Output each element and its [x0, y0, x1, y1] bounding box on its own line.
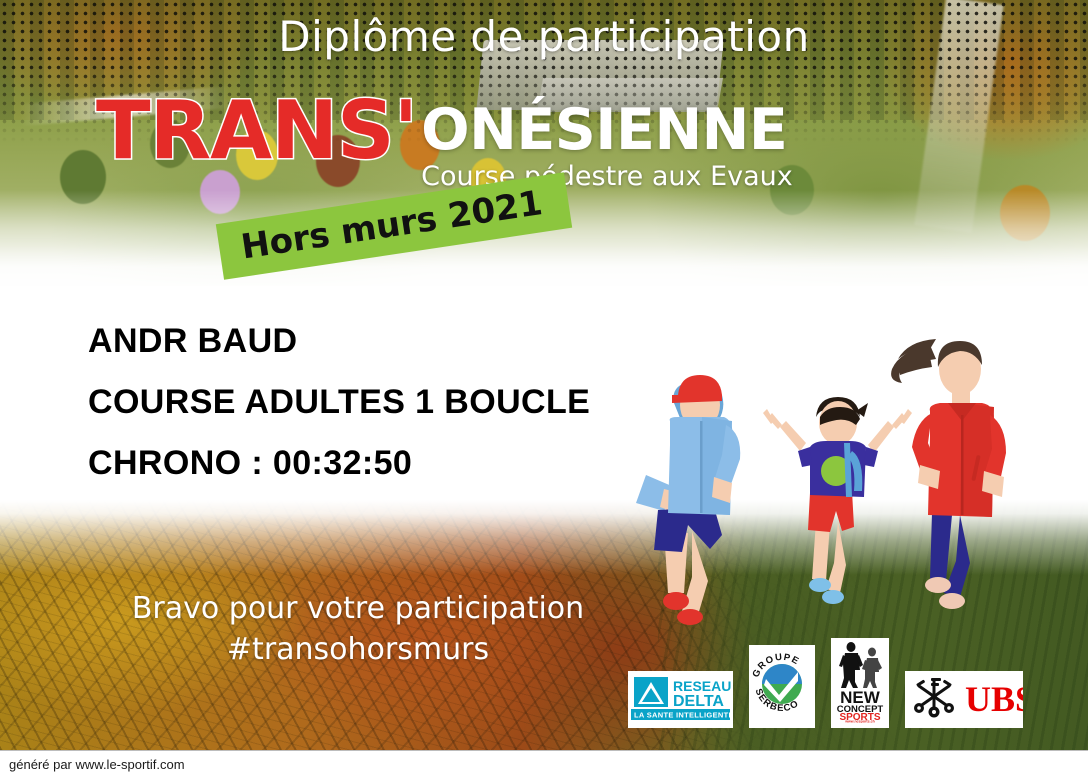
participant-category: COURSE ADULTES 1 BOUCLE [88, 383, 590, 422]
sponsor-new-concept-sports[interactable]: NEW CONCEPT SPORTS www.ncsports.ch [831, 638, 889, 728]
participant-info: ANDR BAUD COURSE ADULTES 1 BOUCLE CHRONO… [88, 322, 590, 483]
sponsor-groupe-serbeco[interactable]: GROUPE SERBECO [749, 645, 815, 728]
bravo-text: Bravo pour votre participation [88, 588, 628, 629]
logo-onesienne-word: ONÉSIENNE [421, 102, 793, 159]
adult-runner-blue-figure [636, 375, 740, 625]
congratulation-message: Bravo pour votre participation #transoho… [88, 588, 628, 671]
ubs-wordmark: UBS [965, 679, 1023, 719]
runners-illustration [630, 325, 1070, 625]
ncs-url: www.ncsports.ch [844, 720, 875, 724]
sponsor-ubs[interactable]: UBS [905, 671, 1023, 728]
woman-runner-red-figure [891, 339, 1006, 609]
event-logotype: TRANS' ONÉSIENNE Course pédestre aux Eva… [96, 92, 793, 192]
reseau-delta-line1: RESEAU [673, 678, 731, 694]
sponsor-reseau-delta[interactable]: RESEAU DELTA LA SANTE INTELLIGENTE [628, 671, 733, 728]
sponsor-logos: RESEAU DELTA LA SANTE INTELLIGENTE GROUP… [628, 640, 1048, 728]
logo-trans-word: TRANS' [96, 92, 417, 170]
participant-name: ANDR BAUD [88, 322, 590, 361]
child-runner-figure [763, 397, 912, 604]
participation-diploma: Diplôme de participation TRANS' ONÉSIENN… [0, 0, 1088, 777]
reseau-delta-tagline: LA SANTE INTELLIGENTE [634, 711, 733, 720]
footer-bar: généré par www.le-sportif.com [0, 750, 1088, 777]
page-title: Diplôme de participation [0, 12, 1088, 61]
hashtag-text: #transohorsmurs [88, 629, 628, 670]
reseau-delta-line2: DELTA [673, 693, 724, 710]
participant-chrono: CHRONO : 00:32:50 [88, 444, 590, 483]
footer-generated-by: généré par www.le-sportif.com [0, 757, 185, 772]
